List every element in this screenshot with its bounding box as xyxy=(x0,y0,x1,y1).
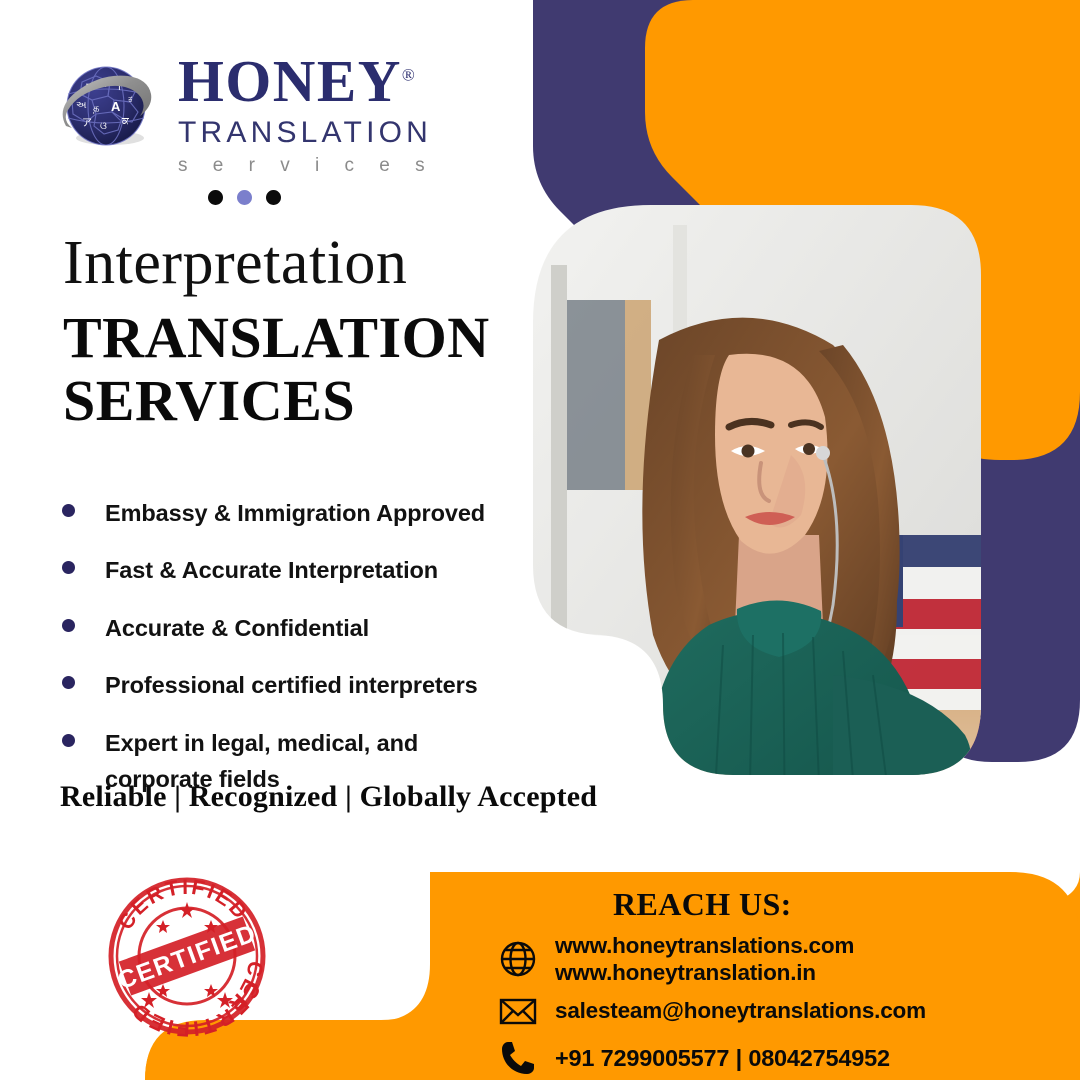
decorative-dots xyxy=(208,190,281,205)
svg-text:ア: ア xyxy=(82,118,92,129)
logo-primary-text: HONEY xyxy=(178,48,402,114)
contact-row-website[interactable]: www.honeytranslations.com www.honeytrans… xyxy=(498,932,854,987)
contact-row-email[interactable]: salesteam@honeytranslations.com xyxy=(498,991,926,1031)
brand-logo[interactable]: कকا અதA ಕアଓਕ HONEY® TRANSLATION s e r v … xyxy=(52,48,435,175)
hero-photo-image xyxy=(533,205,981,831)
dot-1 xyxy=(208,190,223,205)
feature-text: Professional certified interpreters xyxy=(105,667,478,703)
phone-numbers[interactable]: +91 7299005577 | 08042754952 xyxy=(555,1044,890,1073)
list-item: Fast & Accurate Interpretation xyxy=(52,552,532,588)
website-secondary[interactable]: www.honeytranslation.in xyxy=(555,959,854,986)
logo-tertiary-name: s e r v i c e s xyxy=(178,156,435,175)
hero-photo xyxy=(533,205,981,831)
bullet-icon xyxy=(62,676,75,689)
feature-list: Embassy & Immigration Approved Fast & Ac… xyxy=(52,495,532,819)
list-item: Professional certified interpreters xyxy=(52,667,532,703)
feature-text: Embassy & Immigration Approved xyxy=(105,495,485,531)
logo-secondary-name: TRANSLATION xyxy=(178,118,435,148)
feature-text: Accurate & Confidential xyxy=(105,610,369,646)
contact-panel: REACH US: www.honeytranslations.com www.… xyxy=(430,872,1080,1080)
svg-text:અ: અ xyxy=(76,100,87,111)
email-address[interactable]: salesteam@honeytranslations.com xyxy=(555,997,926,1024)
feature-text: Fast & Accurate Interpretation xyxy=(105,552,438,588)
list-item: Embassy & Immigration Approved xyxy=(52,495,532,531)
logo-primary-name: HONEY® xyxy=(178,52,435,111)
poster-canvas: कকا અதA ಕアଓਕ HONEY® TRANSLATION s e r v … xyxy=(0,0,1080,1080)
globe-languages-icon: कকا અதA ಕアଓਕ xyxy=(52,56,164,168)
headline-bold-2: SERVICES xyxy=(63,367,533,435)
phone-icon xyxy=(498,1038,538,1078)
tagline: Reliable | Recognized | Globally Accepte… xyxy=(60,780,597,814)
dot-3 xyxy=(266,190,281,205)
registered-mark: ® xyxy=(402,65,416,84)
svg-text:த: த xyxy=(93,103,100,114)
svg-text:A: A xyxy=(111,99,121,114)
svg-text:ਕ: ਕ xyxy=(121,116,129,127)
headline-bold-1: TRANSLATION xyxy=(63,304,533,372)
bullet-icon xyxy=(62,561,75,574)
svg-text:CER: CER xyxy=(222,959,267,1017)
headline-script: Interpretation xyxy=(63,231,533,296)
website-primary[interactable]: www.honeytranslations.com xyxy=(555,932,854,959)
svg-text:ಕ: ಕ xyxy=(128,94,133,105)
svg-text:ଓ: ଓ xyxy=(100,121,107,132)
dot-2 xyxy=(237,190,252,205)
list-item: Accurate & Confidential xyxy=(52,610,532,646)
bullet-icon xyxy=(62,619,75,632)
globe-icon xyxy=(498,939,538,979)
envelope-icon xyxy=(498,991,538,1031)
page-title: Interpretation TRANSLATION SERVICES xyxy=(63,231,533,435)
contact-row-phone[interactable]: +91 7299005577 | 08042754952 xyxy=(498,1038,890,1078)
certified-stamp-icon: CERTIFIED CERTIFIED CER CERTIFIED xyxy=(103,872,271,1040)
contact-title: REACH US: xyxy=(613,886,792,923)
bullet-icon xyxy=(62,734,75,747)
bullet-icon xyxy=(62,504,75,517)
